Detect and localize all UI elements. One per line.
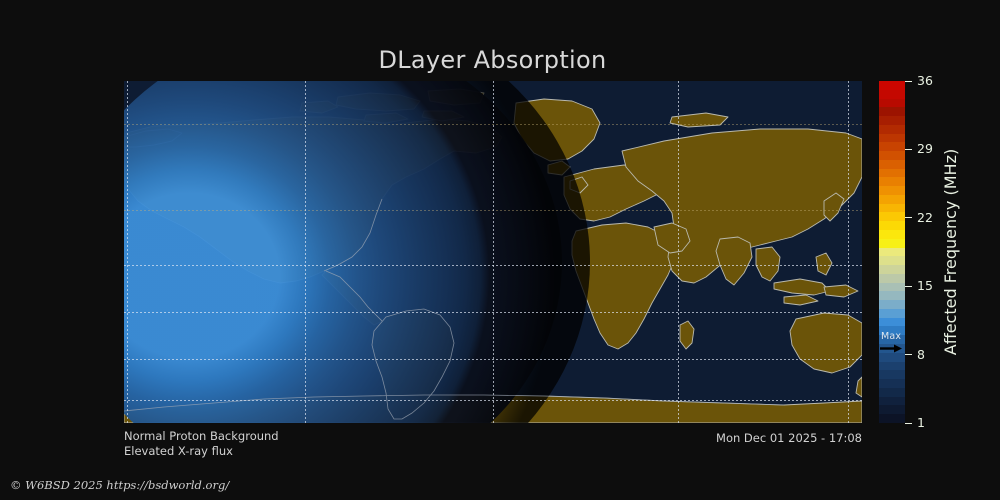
colorbar-band <box>879 388 905 397</box>
colorbar-band <box>879 116 905 125</box>
tick-mark <box>905 217 912 218</box>
colorbar-band <box>879 151 905 160</box>
colorbar-band <box>879 90 905 99</box>
colorbar-band <box>879 362 905 371</box>
colorbar-band <box>879 344 905 353</box>
colorbar-band <box>879 107 905 116</box>
colorbar-band <box>879 134 905 143</box>
colorbar-band <box>879 274 905 283</box>
colorbar-band <box>879 283 905 292</box>
colorbar-band <box>879 195 905 204</box>
page-title: DLayer Absorption <box>0 46 985 74</box>
colorbar-band <box>879 335 905 344</box>
colorbar-band <box>879 186 905 195</box>
tick-mark <box>905 354 912 355</box>
colorbar-band <box>879 318 905 327</box>
colorbar-band <box>879 169 905 178</box>
colorbar-band <box>879 353 905 362</box>
xray-status: Elevated X-ray flux <box>124 444 279 459</box>
world-map-panel[interactable] <box>124 81 862 423</box>
colorbar-band <box>879 204 905 213</box>
colorbar-band <box>879 125 905 134</box>
colorbar[interactable] <box>879 81 905 423</box>
colorbar-band <box>879 291 905 300</box>
colorbar-band <box>879 414 905 423</box>
colorbar-band <box>879 248 905 257</box>
colorbar-band <box>879 177 905 186</box>
tick-mark <box>905 81 912 82</box>
colorbar-band <box>879 160 905 169</box>
colorbar-band <box>879 142 905 151</box>
colorbar-band <box>879 405 905 414</box>
world-map-graphic <box>124 81 862 423</box>
tick-mark <box>905 286 912 287</box>
timestamp: Mon Dec 01 2025 - 17:08 <box>560 431 862 445</box>
colorbar-band <box>879 256 905 265</box>
colorbar-axis-label: Affected Frequency (MHz) <box>938 81 964 423</box>
colorbar-band <box>879 379 905 388</box>
colorbar-band <box>879 265 905 274</box>
tick-mark <box>905 423 912 424</box>
tick-mark <box>905 149 912 150</box>
footer-credit: © W6BSD 2025 https://bsdworld.org/ <box>10 478 229 492</box>
colorbar-band <box>879 397 905 406</box>
colorbar-band <box>879 221 905 230</box>
colorbar-band <box>879 81 905 90</box>
colorbar-band <box>879 239 905 248</box>
colorbar-band <box>879 370 905 379</box>
colorbar-band <box>879 212 905 221</box>
colorbar-band <box>879 309 905 318</box>
proton-status: Normal Proton Background <box>124 429 279 444</box>
colorbar-band <box>879 300 905 309</box>
colorbar-band <box>879 99 905 108</box>
colorbar-band <box>879 326 905 335</box>
colorbar-band <box>879 230 905 239</box>
status-captions: Normal Proton Background Elevated X-ray … <box>124 429 279 459</box>
